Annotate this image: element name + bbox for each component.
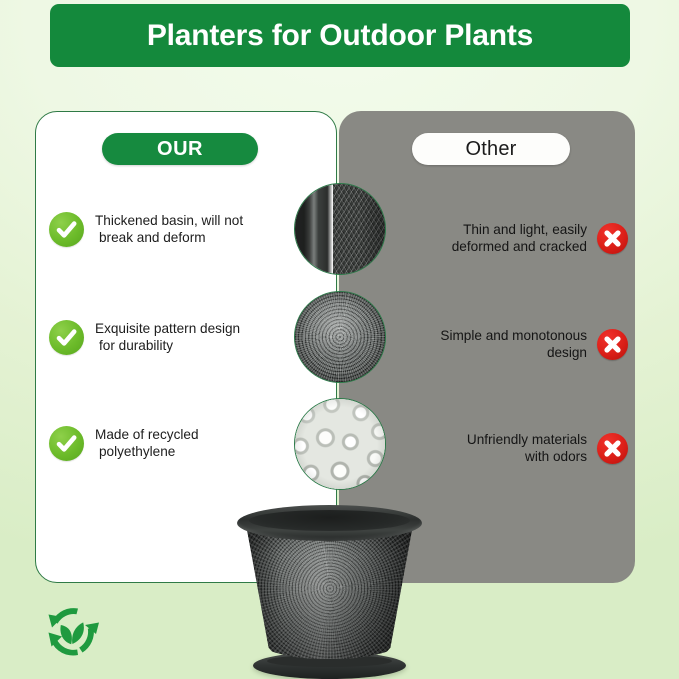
other-feature-text-2: Simple and monotonous design xyxy=(440,328,587,361)
our-feature-1-line2: break and deform xyxy=(95,230,243,247)
other-feature-text-3: Unfriendly materials with odors xyxy=(467,432,587,465)
recycle-badge-alt: Green recycling arrows around two leaves xyxy=(104,598,105,599)
planter-rim xyxy=(237,505,422,541)
header-banner: Planters for Outdoor Plants xyxy=(50,4,630,67)
x-circle-icon xyxy=(597,329,628,360)
other-feature-row-2: Simple and monotonous design xyxy=(385,328,628,361)
recycle-leaf-icon: Green recycling arrows around two leaves xyxy=(38,598,104,664)
our-feature-3-line1: Made of recycled xyxy=(95,427,199,442)
our-column-header-pill: OUR xyxy=(102,133,258,165)
our-feature-3-line2: polyethylene xyxy=(95,444,199,461)
planter-pot-photo: Dark gray round planter pot with woven d… xyxy=(237,503,422,679)
our-feature-row-2: Exquisite pattern design for durability xyxy=(49,320,295,355)
other-column-header-pill: Other xyxy=(412,133,570,165)
our-column-label: OUR xyxy=(157,138,203,161)
other-feature-2-line2: design xyxy=(440,345,587,362)
planter-photo-alt: Dark gray round planter pot with woven d… xyxy=(237,503,238,504)
other-feature-row-3: Unfriendly materials with odors xyxy=(385,432,628,465)
our-feature-text-2: Exquisite pattern design for durability xyxy=(95,321,240,354)
woven-pattern-closeup: Close-up of swirled diamond woven patter… xyxy=(294,291,386,383)
other-column-label: Other xyxy=(465,138,516,161)
our-feature-2-line2: for durability xyxy=(95,338,240,355)
our-feature-2-line1: Exquisite pattern design xyxy=(95,321,240,336)
other-feature-3-line1: Unfriendly materials xyxy=(467,432,587,447)
x-circle-icon xyxy=(597,223,628,254)
other-feature-text-1: Thin and light, easily deformed and crac… xyxy=(452,222,587,255)
x-circle-icon xyxy=(597,433,628,464)
other-feature-2-line1: Simple and monotonous xyxy=(440,328,587,343)
product-comparison-infographic: Planters for Outdoor Plants OUR Other Th… xyxy=(0,0,679,679)
check-circle-icon xyxy=(49,320,84,355)
page-title: Planters for Outdoor Plants xyxy=(147,19,533,53)
planter-rim-opening xyxy=(249,510,410,531)
our-feature-text-1: Thickened basin, will not break and defo… xyxy=(95,213,243,246)
check-circle-icon xyxy=(49,426,84,461)
recycled-pellets-closeup: Close-up of white translucent recycled p… xyxy=(294,398,386,490)
our-feature-row-1: Thickened basin, will not break and defo… xyxy=(49,212,295,247)
other-feature-1-line1: Thin and light, easily xyxy=(463,222,587,237)
our-feature-row-3: Made of recycled polyethylene xyxy=(49,426,295,461)
our-feature-1-line1: Thickened basin, will not xyxy=(95,213,243,228)
other-feature-1-line2: deformed and cracked xyxy=(452,239,587,256)
pot-rim-thickness-closeup: Close-up of thick pot rim cross-section … xyxy=(294,183,386,275)
check-circle-icon xyxy=(49,212,84,247)
our-feature-text-3: Made of recycled polyethylene xyxy=(95,427,199,460)
other-feature-row-1: Thin and light, easily deformed and crac… xyxy=(385,222,628,255)
other-feature-3-line2: with odors xyxy=(467,449,587,466)
